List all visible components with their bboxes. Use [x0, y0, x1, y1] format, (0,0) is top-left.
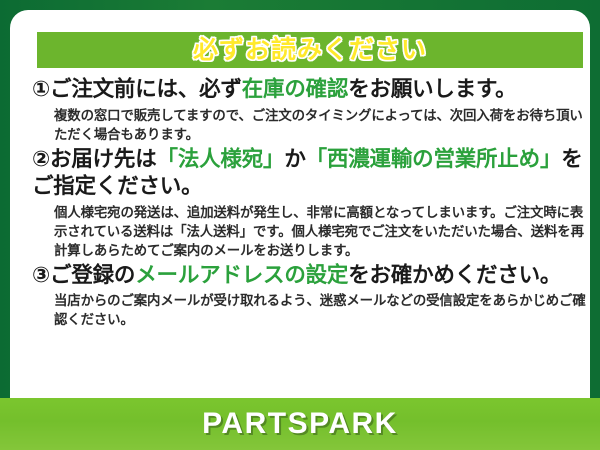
notice-item-number: ② — [32, 147, 50, 171]
heading-text: ご登録の — [50, 263, 135, 287]
notice-item: ③ご登録のメールアドレスの設定をお確かめください。当店からのご案内メールが受け取… — [32, 262, 588, 330]
white-content-panel: 必ずお読みください ①ご注文前には、必ず在庫の確認をお願いします。複数の窓口で販… — [10, 10, 590, 398]
notice-banner: 必ずお読みください ①ご注文前には、必ず在庫の確認をお願いします。複数の窓口で販… — [0, 0, 600, 450]
notice-item: ①ご注文前には、必ず在庫の確認をお願いします。複数の窓口で販売してますので、ご注… — [32, 76, 588, 144]
footer-bar: PARTSPARK — [0, 398, 600, 450]
heading-text: ご注文前には、必ず — [50, 77, 242, 101]
heading-accent-text: メールアドレスの設定 — [135, 263, 348, 287]
notice-item-body: 個人様宅宛の発送は、追加送料が発生し、非常に高額となってしまいます。ご注文時に表… — [54, 203, 588, 260]
heading-accent-text: 在庫の確認 — [242, 77, 349, 101]
header-bar: 必ずお読みください — [37, 32, 583, 68]
heading-text: をお確かめください。 — [348, 263, 561, 287]
notice-item-number: ① — [32, 77, 50, 101]
notice-item-heading: ③ご登録のメールアドレスの設定をお確かめください。 — [32, 262, 588, 290]
header-title: 必ずお読みください — [193, 38, 427, 63]
heading-text: をお願いします。 — [348, 77, 516, 101]
notice-item-heading: ②お届け先は「法人様宛」か「西濃運輸の営業所止め」をご指定ください。 — [32, 146, 588, 201]
brand-logo: PARTSPARK — [202, 409, 398, 439]
notice-item-heading: ①ご注文前には、必ず在庫の確認をお願いします。 — [32, 76, 588, 104]
notice-item: ②お届け先は「法人様宛」か「西濃運輸の営業所止め」をご指定ください。個人様宅宛の… — [32, 146, 588, 260]
notice-items-list: ①ご注文前には、必ず在庫の確認をお願いします。複数の窓口で販売してますので、ご注… — [32, 76, 588, 331]
notice-item-body: 複数の窓口で販売してますので、ご注文のタイミングによっては、次回入荷をお待ち頂い… — [54, 106, 588, 144]
heading-accent-text: 「西濃運輸の営業所止め」 — [306, 147, 562, 171]
heading-accent-text: 「法人様宛」 — [157, 147, 285, 171]
heading-text: お届け先は — [50, 147, 157, 171]
notice-item-body: 当店からのご案内メールが受け取れるよう、迷惑メールなどの受信設定をあらかじめご確… — [54, 291, 588, 329]
notice-item-number: ③ — [32, 263, 50, 287]
heading-text: か — [284, 147, 305, 171]
